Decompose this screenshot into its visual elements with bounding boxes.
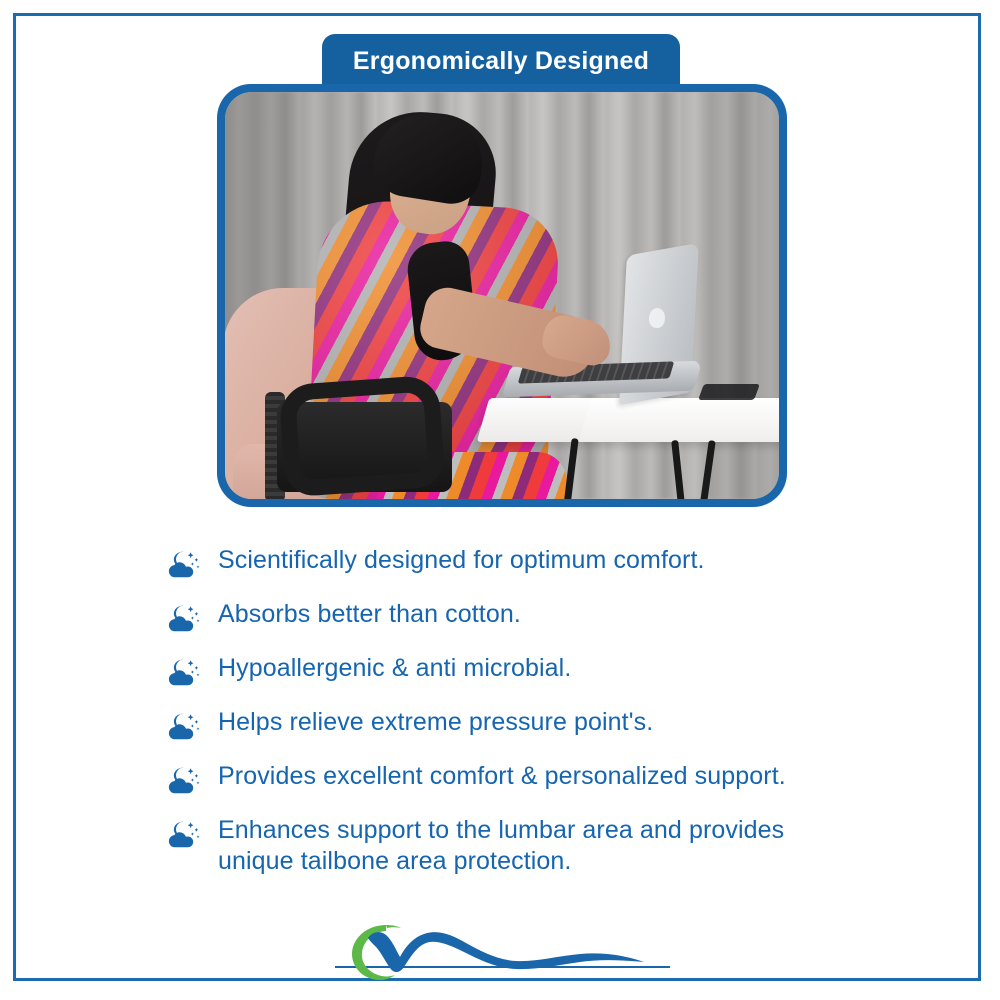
- list-item-label: Absorbs better than cotton.: [218, 599, 521, 630]
- brand-logo: [330, 912, 675, 984]
- list-item-label: Scientifically designed for optimum comf…: [218, 545, 705, 576]
- night-cloud-icon: [168, 819, 202, 851]
- header-banner: Ergonomically Designed: [322, 34, 680, 89]
- night-cloud-icon: [168, 603, 202, 635]
- night-cloud-icon: [168, 765, 202, 797]
- night-cloud-icon: [168, 549, 202, 581]
- product-photo: [225, 92, 779, 499]
- list-item: Provides excellent comfort & personalize…: [168, 761, 888, 797]
- list-item: Absorbs better than cotton.: [168, 599, 888, 635]
- list-item-label: Helps relieve extreme pressure point's.: [218, 707, 653, 738]
- list-item: Helps relieve extreme pressure point's.: [168, 707, 888, 743]
- chair-armrest: [278, 375, 445, 498]
- page-title: Ergonomically Designed: [353, 47, 649, 76]
- list-item-label: Hypoallergenic & anti microbial.: [218, 653, 571, 684]
- product-photo-frame: [217, 84, 787, 507]
- list-item: Hypoallergenic & anti microbial.: [168, 653, 888, 689]
- list-item-label: Enhances support to the lumbar area and …: [218, 815, 784, 877]
- night-cloud-icon: [168, 711, 202, 743]
- logo-mark-icon: [330, 912, 675, 984]
- list-item-label: Provides excellent comfort & personalize…: [218, 761, 786, 792]
- infographic-canvas: Ergonomically Designed: [0, 0, 1000, 1000]
- feature-list: Scientifically designed for optimum comf…: [168, 545, 888, 877]
- mouse-pad: [698, 384, 760, 400]
- table-surface-highlight: [579, 398, 779, 442]
- list-item: Enhances support to the lumbar area and …: [168, 815, 888, 877]
- night-cloud-icon: [168, 657, 202, 689]
- list-item: Scientifically designed for optimum comf…: [168, 545, 888, 581]
